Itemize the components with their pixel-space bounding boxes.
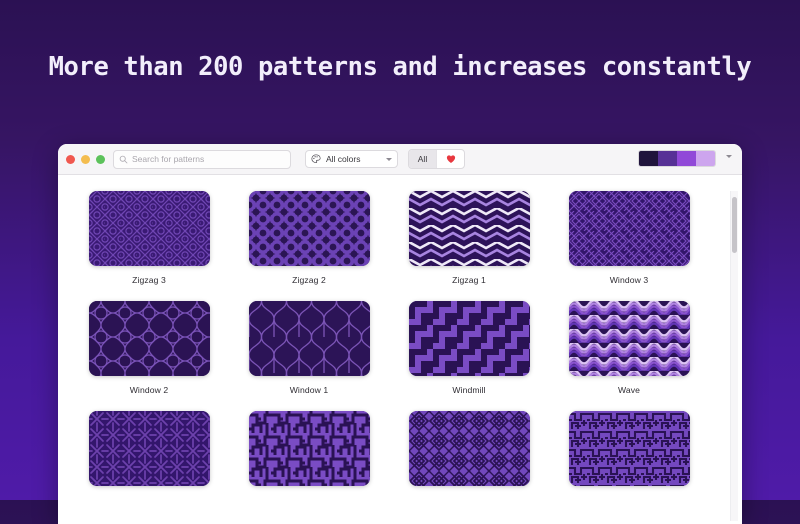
palette-swatch-4 [696, 151, 715, 166]
pattern-grid: Zigzag 3 [58, 191, 718, 495]
minimize-icon[interactable] [81, 155, 90, 164]
pattern-name: Windmill [452, 385, 485, 395]
pattern-card[interactable] [394, 411, 544, 495]
pattern-preview-zigzag-1[interactable] [409, 191, 530, 266]
pattern-grid-area: Zigzag 3 [58, 175, 742, 524]
pattern-preview-windmill[interactable] [409, 301, 530, 376]
pattern-card[interactable]: Zigzag 3 [74, 191, 224, 285]
pattern-card[interactable]: Window 2 [74, 301, 224, 395]
pattern-preview-circuit[interactable] [569, 411, 690, 486]
pattern-card[interactable]: Wave [554, 301, 704, 395]
palette-swatch-strip[interactable] [638, 150, 716, 167]
palette-swatch-1 [639, 151, 658, 166]
chevron-down-icon [386, 158, 392, 161]
scrollbar-thumb[interactable] [732, 197, 737, 253]
pattern-card[interactable]: Zigzag 1 [394, 191, 544, 285]
search-placeholder: Search for patterns [132, 155, 204, 164]
pattern-name: Window 3 [610, 275, 649, 285]
pattern-card[interactable] [74, 411, 224, 495]
pattern-card[interactable]: Zigzag 2 [234, 191, 384, 285]
color-filter-label: All colors [326, 155, 381, 164]
pattern-preview-diamond-grid[interactable] [409, 411, 530, 486]
palette-swatch-2 [658, 151, 677, 166]
pattern-preview-window-2[interactable] [89, 301, 210, 376]
traffic-lights [66, 155, 105, 164]
search-icon [119, 155, 128, 164]
pattern-preview-wave[interactable] [569, 301, 690, 376]
segment-favorites[interactable] [436, 150, 464, 168]
zoom-icon[interactable] [96, 155, 105, 164]
search-input[interactable]: Search for patterns [113, 150, 291, 169]
color-filter-dropdown[interactable]: All colors [305, 150, 398, 168]
pattern-card[interactable]: Windmill [394, 301, 544, 395]
pattern-preview-window-1[interactable] [249, 301, 370, 376]
pattern-preview-arrows[interactable] [89, 411, 210, 486]
heart-icon [446, 154, 456, 164]
close-icon[interactable] [66, 155, 75, 164]
pattern-name: Zigzag 2 [292, 275, 326, 285]
pattern-preview-zigzag-3[interactable] [89, 191, 210, 266]
pattern-name: Wave [618, 385, 640, 395]
pattern-name: Zigzag 3 [132, 275, 166, 285]
page-title: More than 200 patterns and increases con… [0, 52, 800, 82]
pattern-card[interactable]: Window 1 [234, 301, 384, 395]
pattern-preview-window-3[interactable] [569, 191, 690, 266]
pattern-preview-zigzag-2[interactable] [249, 191, 370, 266]
pattern-name: Window 2 [130, 385, 169, 395]
pattern-card[interactable] [234, 411, 384, 495]
pattern-card[interactable]: Window 3 [554, 191, 704, 285]
pattern-card[interactable] [554, 411, 704, 495]
pattern-preview-maze-thick[interactable] [249, 411, 370, 486]
pattern-name: Zigzag 1 [452, 275, 486, 285]
palette-icon [311, 154, 321, 164]
window-toolbar: Search for patterns All colors All [58, 144, 742, 175]
app-window: Search for patterns All colors All [58, 144, 742, 524]
palette-chevron-down-icon[interactable] [726, 155, 732, 158]
pattern-name: Window 1 [290, 385, 329, 395]
filter-segmented-control: All [408, 149, 465, 169]
segment-all[interactable]: All [409, 150, 436, 168]
palette-swatch-3 [677, 151, 696, 166]
